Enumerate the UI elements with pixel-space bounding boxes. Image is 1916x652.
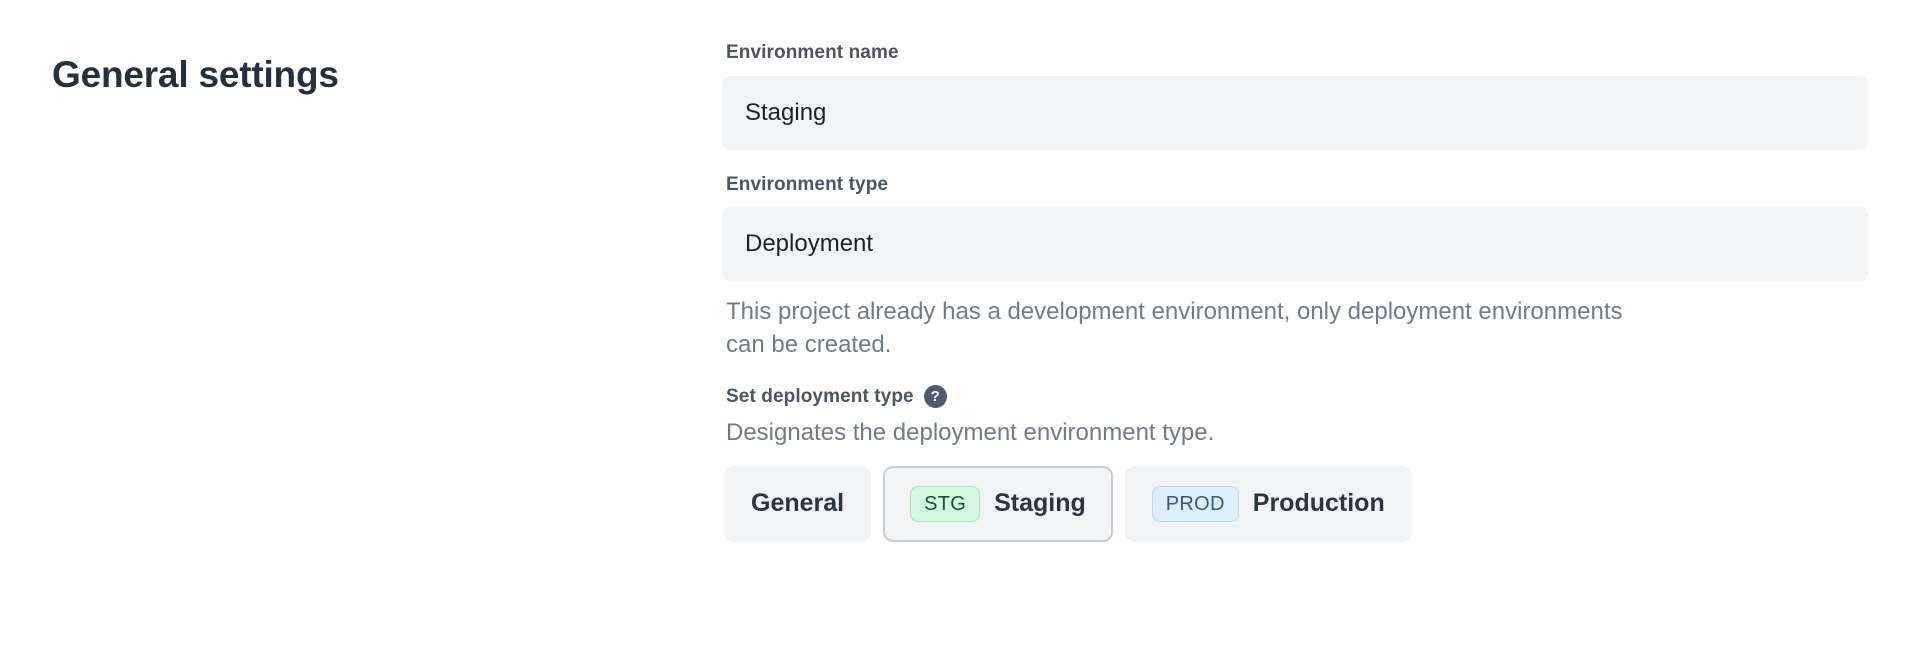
deployment-type-label-row: Set deployment type ? [726,384,1868,410]
deployment-option-production[interactable]: PROD Production [1125,466,1412,542]
environment-type-label: Environment type [726,172,1868,198]
deployment-type-options: General STG Staging PROD Production [724,466,1868,542]
environment-type-help-text: This project already has a development e… [726,295,1626,361]
general-settings-page: General settings Environment name Enviro… [0,0,1916,652]
environment-name-input[interactable] [722,76,1868,150]
deployment-option-production-label: Production [1253,489,1385,518]
deployment-type-field-group: Set deployment type ? Designates the dep… [722,384,1868,542]
environment-type-input[interactable] [722,207,1868,281]
page-title: General settings [52,51,652,99]
settings-form: Environment name Environment type This p… [722,40,1868,542]
deployment-option-staging-label: Staging [994,489,1086,518]
deployment-option-staging[interactable]: STG Staging [883,466,1113,542]
environment-type-field-group: Environment type This project already ha… [722,172,1868,362]
help-circle-icon[interactable]: ? [924,385,947,408]
environment-name-field-group: Environment name [722,40,1868,150]
deployment-type-label: Set deployment type [726,384,914,410]
deployment-type-description: Designates the deployment environment ty… [726,417,1868,449]
deployment-option-general[interactable]: General [724,466,871,542]
stg-badge: STG [910,486,980,522]
deployment-option-general-label: General [751,489,844,518]
prod-badge: PROD [1152,486,1239,522]
environment-name-label: Environment name [726,40,1868,66]
